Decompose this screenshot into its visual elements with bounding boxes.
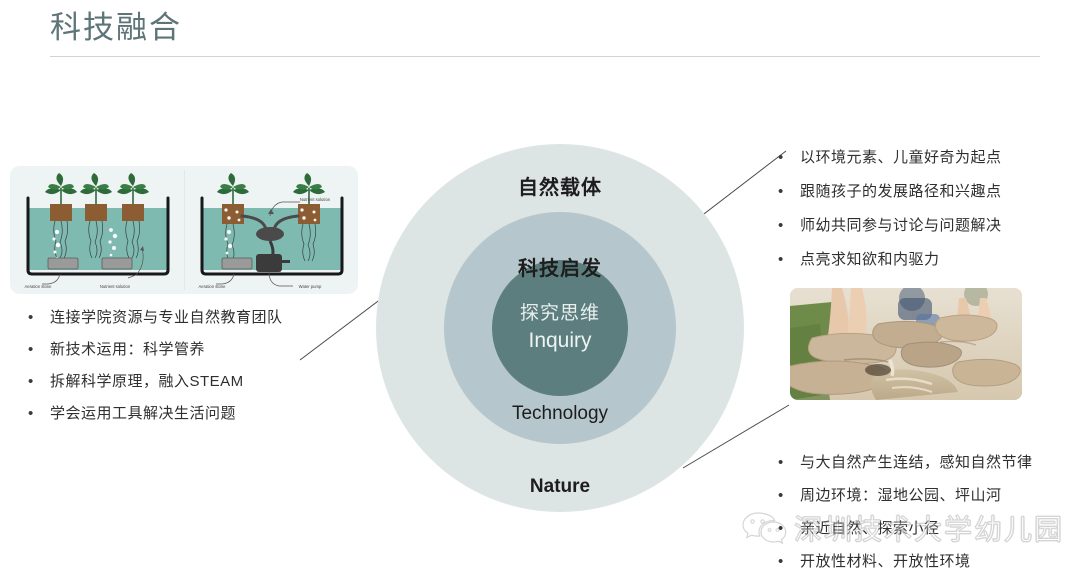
list-item: • 点亮求知欲和内驱力 bbox=[778, 245, 1002, 279]
bullet-list-left: • 连接学院资源与专业自然教育团队 • 新技术运用：科学管养 • 拆解科学原理，… bbox=[28, 303, 283, 431]
bullet-marker-icon: • bbox=[778, 448, 800, 478]
nature-play-photo bbox=[790, 288, 1022, 400]
hydroponics-illustration: Aeration stone Nutrient solution bbox=[10, 166, 358, 294]
ring-outer-label-cn: 自然载体 bbox=[376, 171, 744, 200]
list-item: • 以环境元素、儿童好奇为起点 bbox=[778, 143, 1002, 177]
list-item: • 拆解科学原理，融入STEAM bbox=[28, 367, 283, 399]
list-item: • 连接学院资源与专业自然教育团队 bbox=[28, 303, 283, 335]
bullet-marker-icon: • bbox=[778, 245, 800, 275]
bullet-marker-icon: • bbox=[28, 399, 50, 429]
list-item: • 与大自然产生连结，感知自然节律 bbox=[778, 448, 1033, 481]
ring-inner-label-cn: 探究思维 bbox=[520, 301, 600, 327]
nature-photo-svg bbox=[790, 288, 1022, 400]
slide-canvas: 科技融合 bbox=[0, 0, 1080, 580]
bullet-marker-icon: • bbox=[28, 303, 50, 333]
list-item: • 师幼共同参与讨论与问题解决 bbox=[778, 211, 1002, 245]
concentric-circle-diagram: 自然载体 科技启发 Technology Nature 探究思维 Inquiry bbox=[376, 144, 744, 512]
ring-inner-label-group: 探究思维 Inquiry bbox=[492, 260, 628, 396]
bullet-marker-icon: • bbox=[28, 335, 50, 365]
list-item: • 新技术运用：科学管养 bbox=[28, 335, 283, 367]
list-item: • 周边环境：湿地公园、坪山河 bbox=[778, 481, 1033, 514]
bullet-text: 周边环境：湿地公园、坪山河 bbox=[800, 481, 1002, 511]
bullet-marker-icon: • bbox=[778, 514, 800, 544]
ring-middle-label-en: Technology bbox=[376, 403, 744, 425]
bullet-list-bottom-right: • 与大自然产生连结，感知自然节律 • 周边环境：湿地公园、坪山河 • 亲近自然… bbox=[778, 448, 1033, 580]
bullet-text: 开放性材料、开放性环境 bbox=[800, 547, 971, 577]
bullet-marker-icon: • bbox=[778, 481, 800, 511]
list-item: • 学会运用工具解决生活问题 bbox=[28, 399, 283, 431]
bullet-text: 跟随孩子的发展路径和兴趣点 bbox=[800, 177, 1002, 207]
bullet-text: 以环境元素、儿童好奇为起点 bbox=[800, 143, 1002, 173]
list-item: • 亲近自然、探索小径 bbox=[778, 514, 1033, 547]
caption-aeration-stone-left: Aeration stone bbox=[24, 284, 52, 289]
ring-inner-label-en: Inquiry bbox=[528, 327, 591, 355]
bullet-text: 学会运用工具解决生活问题 bbox=[50, 399, 236, 429]
bullet-text: 点亮求知欲和内驱力 bbox=[800, 245, 940, 275]
title-block: 科技融合 bbox=[50, 6, 1040, 62]
bullet-text: 拆解科学原理，融入STEAM bbox=[50, 367, 244, 397]
bullet-list-top-right: • 以环境元素、儿童好奇为起点 • 跟随孩子的发展路径和兴趣点 • 师幼共同参与… bbox=[778, 143, 1002, 279]
caption-nutrient-solution-left: Nutrient solution bbox=[100, 284, 131, 289]
caption-aeration-stone-right: Aeration stone bbox=[198, 284, 226, 289]
list-item: • 开放性材料、开放性环境 bbox=[778, 547, 1033, 580]
ring-outer-label-en: Nature bbox=[376, 476, 744, 498]
bullet-text: 新技术运用：科学管养 bbox=[50, 335, 205, 365]
title-divider bbox=[50, 56, 1040, 57]
bullet-text: 师幼共同参与讨论与问题解决 bbox=[800, 211, 1002, 241]
illustration-divider bbox=[184, 170, 185, 290]
bullet-text: 与大自然产生连结，感知自然节律 bbox=[800, 448, 1033, 478]
bullet-marker-icon: • bbox=[778, 143, 800, 173]
bullet-text: 连接学院资源与专业自然教育团队 bbox=[50, 303, 283, 333]
caption-nutrient-solution-right: Nutrient solution bbox=[300, 197, 331, 202]
page-title: 科技融合 bbox=[50, 6, 182, 50]
bullet-marker-icon: • bbox=[28, 367, 50, 397]
list-item: • 跟随孩子的发展路径和兴趣点 bbox=[778, 177, 1002, 211]
caption-water-pump-right: Water pump bbox=[299, 284, 322, 289]
bullet-marker-icon: • bbox=[778, 211, 800, 241]
bullet-text: 亲近自然、探索小径 bbox=[800, 514, 940, 544]
bullet-marker-icon: • bbox=[778, 177, 800, 207]
bullet-marker-icon: • bbox=[778, 547, 800, 577]
